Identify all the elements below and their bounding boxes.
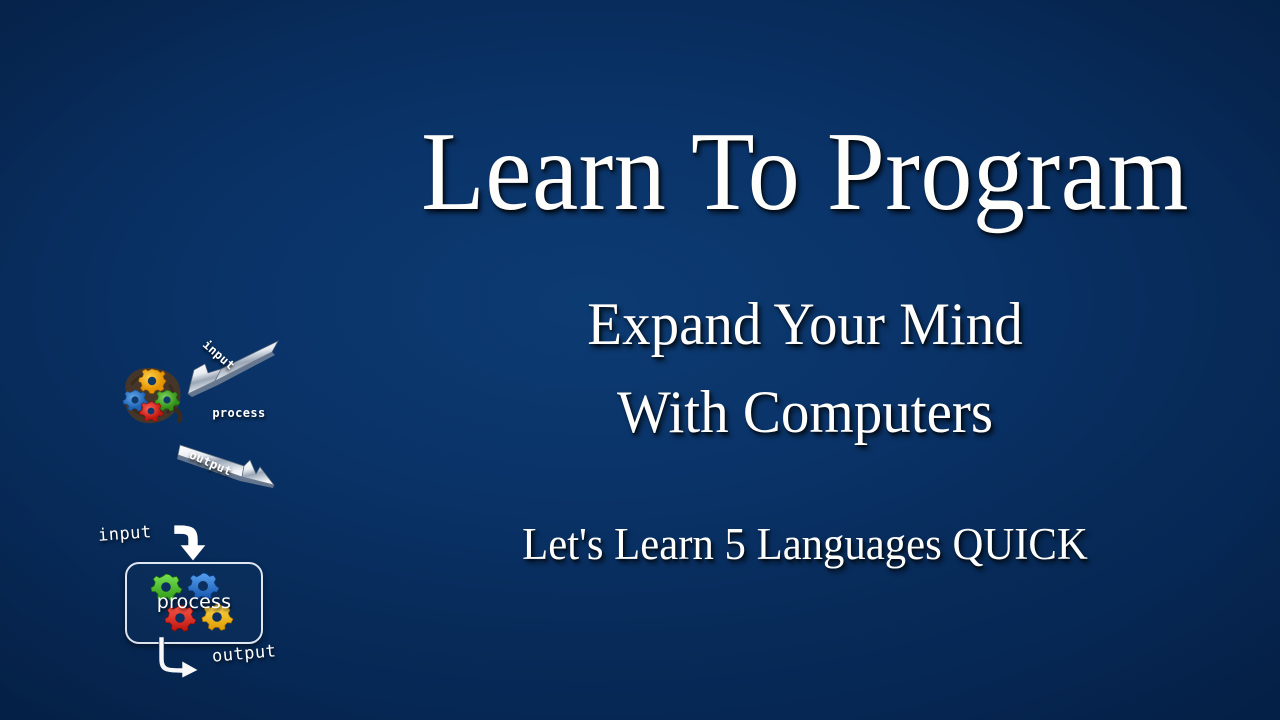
input-curved-arrow-icon	[172, 518, 216, 564]
input-arrow-3d-icon	[180, 338, 280, 400]
input-label: input	[97, 522, 152, 546]
page-title: Learn To Program	[363, 116, 1247, 228]
process-label-box: process	[127, 591, 261, 613]
process-label-brain: process	[192, 406, 286, 420]
tagline: Let's Learn 5 Languages QUICK	[354, 522, 1257, 567]
process-box: process	[125, 562, 263, 644]
subtitle-line-2: With Computers	[354, 382, 1257, 442]
slide-canvas: Learn To Program Expand Your Mind With C…	[0, 0, 1280, 720]
subtitle-line-1: Expand Your Mind	[354, 294, 1257, 354]
output-arrow-3d-icon	[174, 440, 280, 492]
output-label: output	[211, 641, 277, 667]
input-process-output-box-diagram: input	[92, 518, 317, 683]
brain-gears-icon	[112, 362, 190, 430]
output-curved-arrow-icon	[156, 636, 212, 678]
input-process-output-brain-diagram: input process output	[108, 336, 288, 496]
headline-block: Learn To Program Expand Your Mind With C…	[330, 0, 1280, 720]
